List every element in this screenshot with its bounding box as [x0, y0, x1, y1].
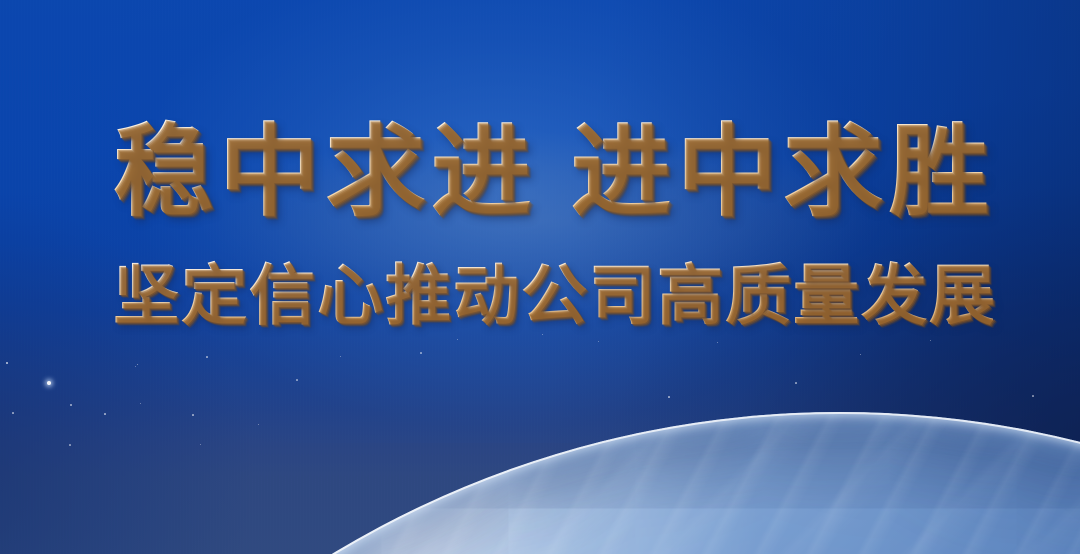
subhead-text: 坚定信心推动公司高质量发展 [113, 260, 993, 330]
earth-globe-icon [0, 300, 1080, 554]
headline-block: 稳中求进 进中求胜 坚定信心推动公司高质量发展 [113, 118, 993, 330]
promo-banner: 稳中求进 进中求胜 坚定信心推动公司高质量发展 [0, 0, 1080, 554]
earth-cloud-bands [0, 412, 1080, 554]
headline-text: 稳中求进 进中求胜 [113, 118, 993, 226]
earth-sphere [0, 412, 1080, 554]
